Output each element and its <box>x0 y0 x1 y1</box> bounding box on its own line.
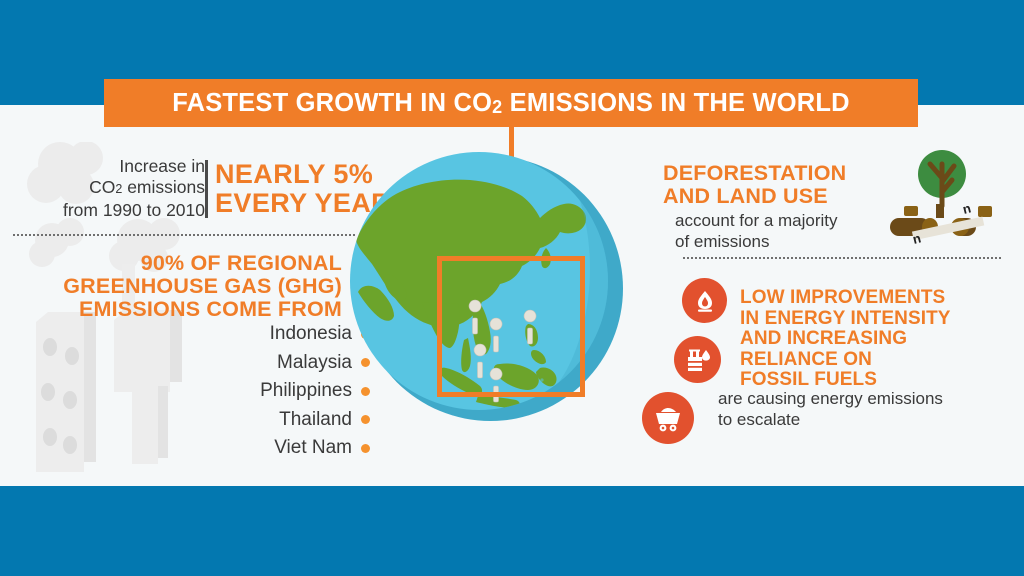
list-item: Indonesia <box>140 320 370 349</box>
ghg-heading: 90% OF REGIONAL GREENHOUSE GAS (GHG) EMI… <box>20 252 342 321</box>
increase-line-1: Increase in <box>55 156 205 177</box>
region-selection-rectangle[interactable] <box>437 256 585 397</box>
fossil-head-3: AND INCREASING <box>740 329 1000 350</box>
page-title-subscript: 2 <box>492 97 502 117</box>
fossil-body-1: are causing energy emissions <box>718 389 1018 410</box>
svg-text:n: n <box>961 200 972 216</box>
page-title-part2: EMISSIONS IN THE WORLD <box>502 89 849 117</box>
gas-flame-icon <box>682 278 727 323</box>
increase-line-2: CO2 emissions <box>55 177 205 200</box>
increase-caption: Increase in CO2 emissions from 1990 to 2… <box>55 156 205 221</box>
list-item: Malaysia <box>140 349 370 378</box>
ghg-line-1: 90% OF REGIONAL <box>20 252 342 275</box>
tree-and-logs-icon: n n <box>888 148 1016 248</box>
title-banner: FASTEST GROWTH IN CO2 EMISSIONS IN THE W… <box>104 79 918 127</box>
fossil-fuels-body: are causing energy emissions to escalate <box>718 389 1018 430</box>
deforestation-head-2: AND LAND USE <box>663 185 923 208</box>
increase-co2-pre: CO <box>89 177 115 197</box>
page-title: FASTEST GROWTH IN CO2 EMISSIONS IN THE W… <box>172 89 850 118</box>
fossil-body-2: to escalate <box>718 410 1018 431</box>
ghg-line-2: GREENHOUSE GAS (GHG) <box>20 275 342 298</box>
coal-cart-icon <box>642 392 694 444</box>
country-label: Philippines <box>260 377 352 406</box>
right-dashed-divider <box>683 257 1001 259</box>
page-title-part1: FASTEST GROWTH IN CO <box>172 89 492 117</box>
oil-barrel-icon <box>674 336 721 383</box>
deforestation-body-2: of emissions <box>663 232 923 253</box>
list-item: Philippines <box>140 377 370 406</box>
vertical-divider <box>205 160 208 218</box>
country-list: Indonesia Malaysia Philippines Thailand … <box>140 320 370 463</box>
fossil-fuels-heading: LOW IMPROVEMENTS IN ENERGY INTENSITY AND… <box>740 288 1000 391</box>
fossil-head-1: LOW IMPROVEMENTS <box>740 288 1000 309</box>
list-item: Thailand <box>140 406 370 435</box>
deforestation-body-1: account for a majority <box>663 207 923 232</box>
increase-line-3: from 1990 to 2010 <box>55 200 205 221</box>
deforestation-head-1: DEFORESTATION <box>663 162 923 185</box>
left-dashed-divider <box>13 234 355 236</box>
fossil-head-4: RELIANCE ON <box>740 350 1000 371</box>
increase-co2-post: emissions <box>122 177 205 197</box>
globe-illustration <box>340 140 640 470</box>
fossil-head-2: IN ENERGY INTENSITY <box>740 309 1000 330</box>
fossil-head-5: FOSSIL FUELS <box>740 370 1000 391</box>
list-item: Viet Nam <box>140 434 370 463</box>
bottom-blue-band <box>0 486 1024 576</box>
ghg-line-3: EMISSIONS COME FROM <box>20 298 342 321</box>
infographic-canvas: FASTEST GROWTH IN CO2 EMISSIONS IN THE W… <box>0 0 1024 576</box>
deforestation-block: DEFORESTATION AND LAND USE account for a… <box>663 162 923 252</box>
